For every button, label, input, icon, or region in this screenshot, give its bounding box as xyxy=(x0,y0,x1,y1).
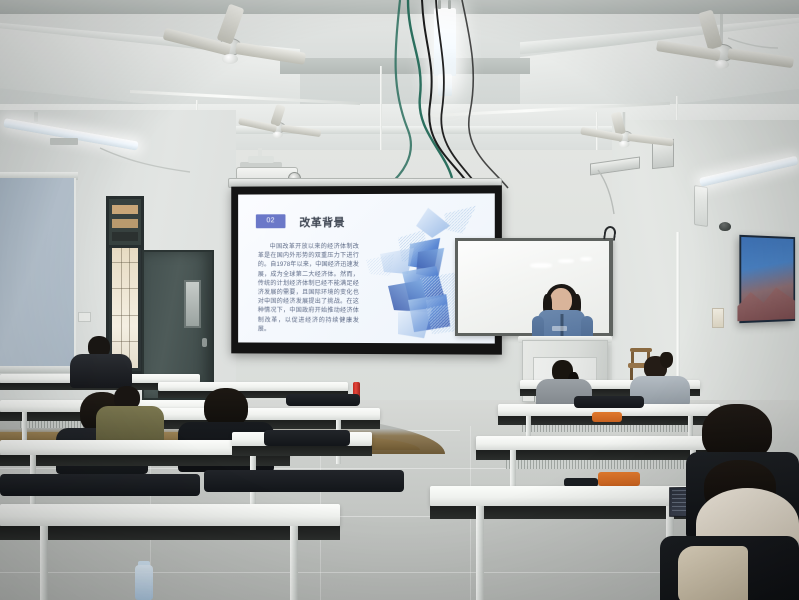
slide-section-badge: 02 xyxy=(256,214,286,228)
chair-back-row-c-1[interactable] xyxy=(264,430,350,446)
chair-seat-row-b-2[interactable] xyxy=(592,412,622,422)
slide-title: 改革背景 xyxy=(299,214,345,230)
light-tube-left-housing xyxy=(50,138,78,145)
wall-hook xyxy=(603,225,617,241)
ceiling-conduit-drop-b xyxy=(380,66,382,156)
student-corner-cream xyxy=(660,460,799,600)
pendant-light-pin-b xyxy=(448,0,451,9)
student-back-left-window xyxy=(68,336,134,386)
ceiling-fan-front-left xyxy=(140,10,320,80)
window-transom xyxy=(106,196,144,248)
presenter-badge xyxy=(552,326,567,331)
wall-speaker xyxy=(694,185,708,227)
classroom-scene: 02 改革背景 中国改革开放以来的经济体制改革是在国内外形势的双重压力下进行的。… xyxy=(0,0,799,600)
door-knob[interactable] xyxy=(202,338,207,347)
chair-back-row-b-2[interactable] xyxy=(574,396,644,408)
slide-body-text: 中国改革开放以来的经济体制改革是在国内外形势的双重压力下进行的。自1978年以来… xyxy=(258,242,359,334)
light-switch[interactable] xyxy=(78,312,91,322)
water-bottle xyxy=(135,565,153,600)
chair-back-row-d-1[interactable] xyxy=(0,474,200,496)
ceiling-soffit-front xyxy=(0,0,799,14)
student-corner-bag xyxy=(678,546,748,600)
light-bracket-left xyxy=(34,112,38,122)
roller-blind-board xyxy=(0,178,76,371)
chair-back-row-d-2[interactable] xyxy=(204,470,404,492)
projector-bracket-arm xyxy=(248,156,274,163)
wall-tv-monitor[interactable] xyxy=(739,235,795,323)
wall-notice-poster xyxy=(712,308,724,328)
roller-blind-footer xyxy=(0,366,77,373)
door-view-window xyxy=(184,280,201,328)
ceiling-fan-front-right xyxy=(640,14,799,84)
chair-seat-row-c-2[interactable] xyxy=(598,472,640,486)
dome-camera-icon xyxy=(719,222,731,231)
pendant-light-tube xyxy=(434,8,456,76)
ceiling-fan-mid-left xyxy=(230,106,326,146)
ceiling-fan-mid-right xyxy=(570,112,681,155)
desk-row-d-left xyxy=(0,504,340,600)
pendant-light-pin-a xyxy=(438,0,441,9)
chair-back-row-b-1[interactable] xyxy=(286,394,360,406)
tv-mountain-image xyxy=(737,284,794,321)
student-row2-olive xyxy=(96,386,166,442)
pendant-light-glow xyxy=(438,74,452,96)
